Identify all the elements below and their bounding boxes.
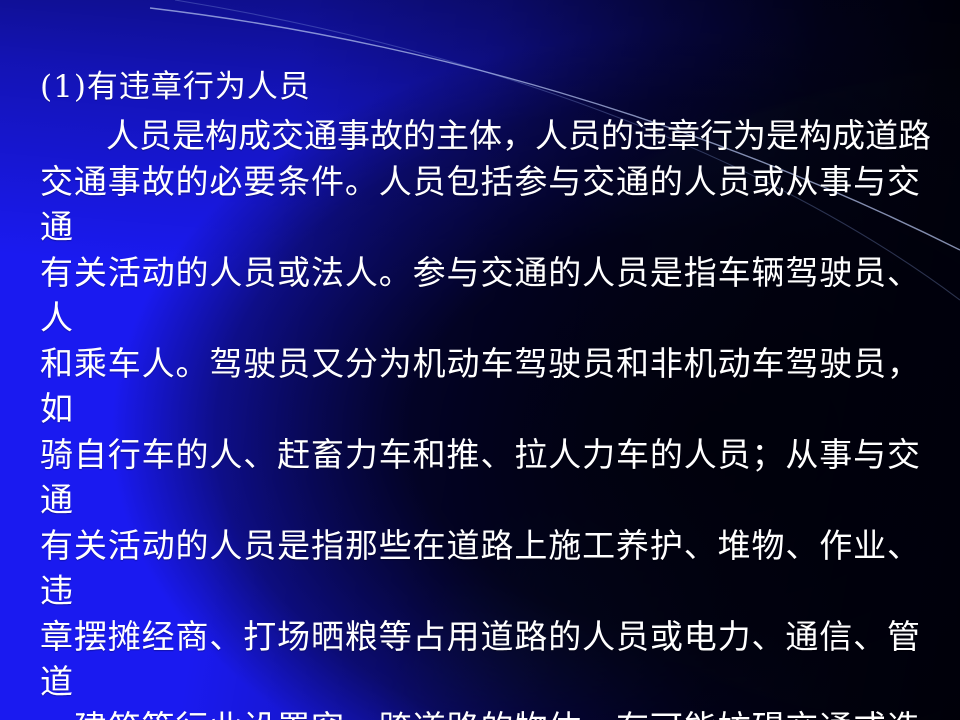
slide-heading: (1)有违章行为人员 [40, 64, 916, 110]
body-line: 交通事故的必要条件。人员包括参与交通的人员或从事与交通 [40, 159, 920, 250]
body-line: 骑自行车的人、赶畜力车和推、拉人力车的人员；从事与交通 [40, 432, 920, 523]
presentation-slide: (1)有违章行为人员 人员是构成交通事故的主体，人员的违章行为是构成道路 交通事… [0, 0, 960, 720]
body-line: 人员是构成交通事故的主体，人员的违章行为是构成道路 [40, 113, 916, 159]
body-line: 有关活动的人员是指那些在道路上施工养护、堆物、作业、违 [40, 523, 920, 614]
body-line: 和乘车人。驾驶员又分为机动车驾驶员和非机动车驾驶员，如 [40, 341, 920, 432]
body-line: 章摆摊经商、打场晒粮等占用道路的人员或电力、通信、管道 [40, 614, 920, 705]
slide-text-content: (1)有违章行为人员 人员是构成交通事故的主体，人员的违章行为是构成道路 交通事… [0, 0, 960, 720]
slide-body-paragraph: 人员是构成交通事故的主体，人员的违章行为是构成道路 交通事故的必要条件。人员包括… [40, 113, 916, 720]
body-line: 、建筑等行业设置穿、跨道路的物体，有可能妨碍交通或造成 [40, 705, 920, 720]
body-line: 有关活动的人员或法人。参与交通的人员是指车辆驾驶员、人 [40, 250, 920, 341]
